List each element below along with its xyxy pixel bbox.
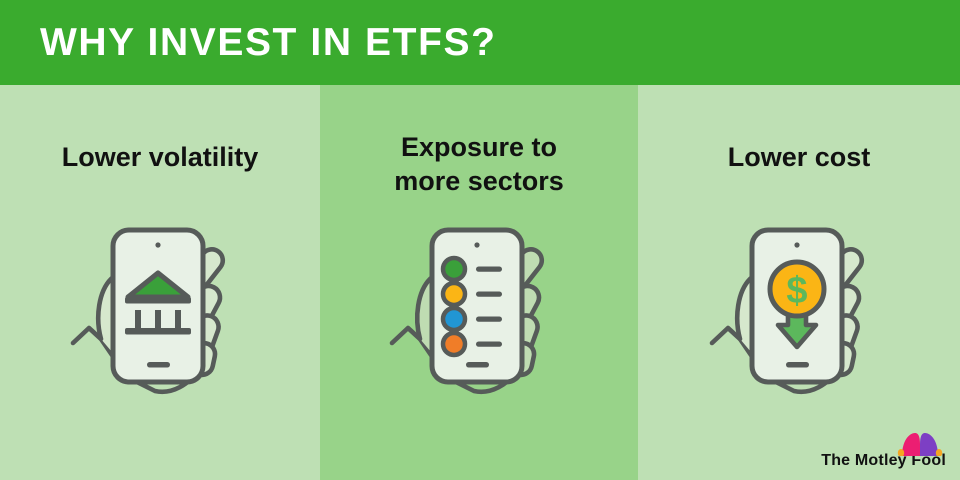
column-heading-exposure-line1: Exposure to [334,130,624,164]
hand-holding-phone-bank-icon [65,225,255,410]
motley-fool-logo: The Motley Fool [821,452,946,470]
svg-text:$: $ [786,270,807,312]
column-lower-volatility: Lower volatility [0,85,320,480]
column-heading-exposure: Exposure to more sectors [320,130,638,198]
header-band: WHY INVEST IN ETFS? [0,0,960,85]
columns-container: Lower volatility [0,85,960,480]
infographic-root: WHY INVEST IN ETFS? Lower volatility [0,0,960,480]
hand-holding-phone-list-icon [384,225,574,410]
column-heading-lower-volatility: Lower volatility [0,140,320,174]
column-heading-exposure-line2: more sectors [334,164,624,198]
column-lower-cost: Lower cost [638,85,960,480]
page-title: WHY INVEST IN ETFS? [40,21,497,65]
hand-holding-phone-coin-down-arrow-icon: $ [704,225,894,410]
jester-hat-icon [896,428,944,456]
column-exposure-to-more-sectors: Exposure to more sectors [320,85,638,480]
column-heading-lower-cost: Lower cost [638,140,960,174]
